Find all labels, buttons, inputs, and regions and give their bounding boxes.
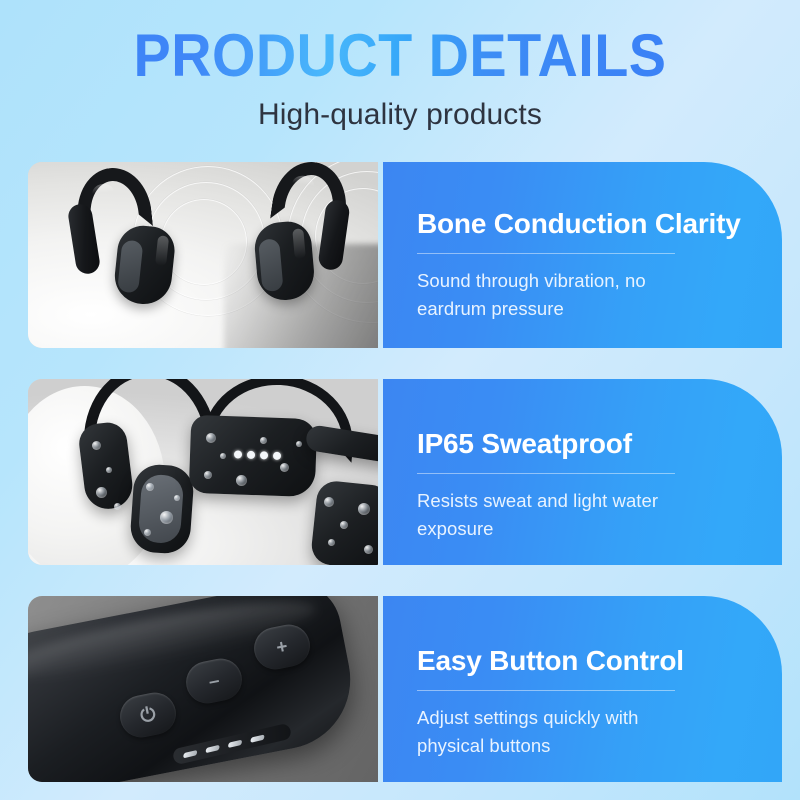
- divider: [417, 690, 675, 691]
- feature-card-button-control[interactable]: ⏻ – + Easy Button Control Adjust: [28, 596, 800, 782]
- minus-icon: –: [207, 671, 221, 692]
- divider: [417, 473, 675, 474]
- plus-icon: +: [275, 637, 290, 658]
- feature-heading: IP65 Sweatproof: [417, 427, 752, 460]
- feature-body: Adjust settings quickly with physical bu…: [417, 704, 709, 760]
- product-photo-bone-conduction: [28, 162, 378, 348]
- led-dash: [250, 734, 264, 742]
- led-indicator-row: [234, 450, 281, 460]
- led-dash: [228, 739, 242, 747]
- product-photo-sweatproof: [28, 379, 378, 565]
- headphone-main-body: [189, 415, 318, 497]
- led-dash: [183, 749, 197, 757]
- page-subtitle: High-quality products: [0, 98, 800, 132]
- feature-text-panel-button-control: Easy Button Control Adjust settings quic…: [383, 596, 782, 782]
- led-indicator: [260, 451, 268, 459]
- feature-text-panel-sweatproof: IP65 Sweatproof Resists sweat and light …: [383, 379, 782, 565]
- headphone-pod-center: [129, 463, 195, 555]
- feature-body: Resists sweat and light water exposure: [417, 487, 709, 543]
- feature-body: Sound through vibration, no eardrum pres…: [417, 267, 709, 323]
- led-dash: [205, 744, 219, 752]
- power-icon: ⏻: [139, 704, 157, 726]
- feature-heading: Bone Conduction Clarity: [417, 207, 752, 240]
- product-photo-button-control: ⏻ – +: [28, 596, 378, 782]
- divider: [417, 253, 675, 254]
- led-indicator: [273, 452, 281, 460]
- feature-heading: Easy Button Control: [417, 644, 752, 677]
- feature-text-panel-bone-conduction: Bone Conduction Clarity Sound through vi…: [383, 162, 782, 348]
- page-title: PRODUCT DETAILS: [28, 24, 772, 89]
- feature-card-list: Bone Conduction Clarity Sound through vi…: [0, 162, 800, 782]
- led-indicator: [234, 450, 242, 458]
- page-header: PRODUCT DETAILS High-quality products: [0, 0, 800, 132]
- led-indicator: [247, 451, 255, 459]
- feature-card-bone-conduction[interactable]: Bone Conduction Clarity Sound through vi…: [28, 162, 800, 348]
- feature-card-sweatproof[interactable]: IP65 Sweatproof Resists sweat and light …: [28, 379, 800, 565]
